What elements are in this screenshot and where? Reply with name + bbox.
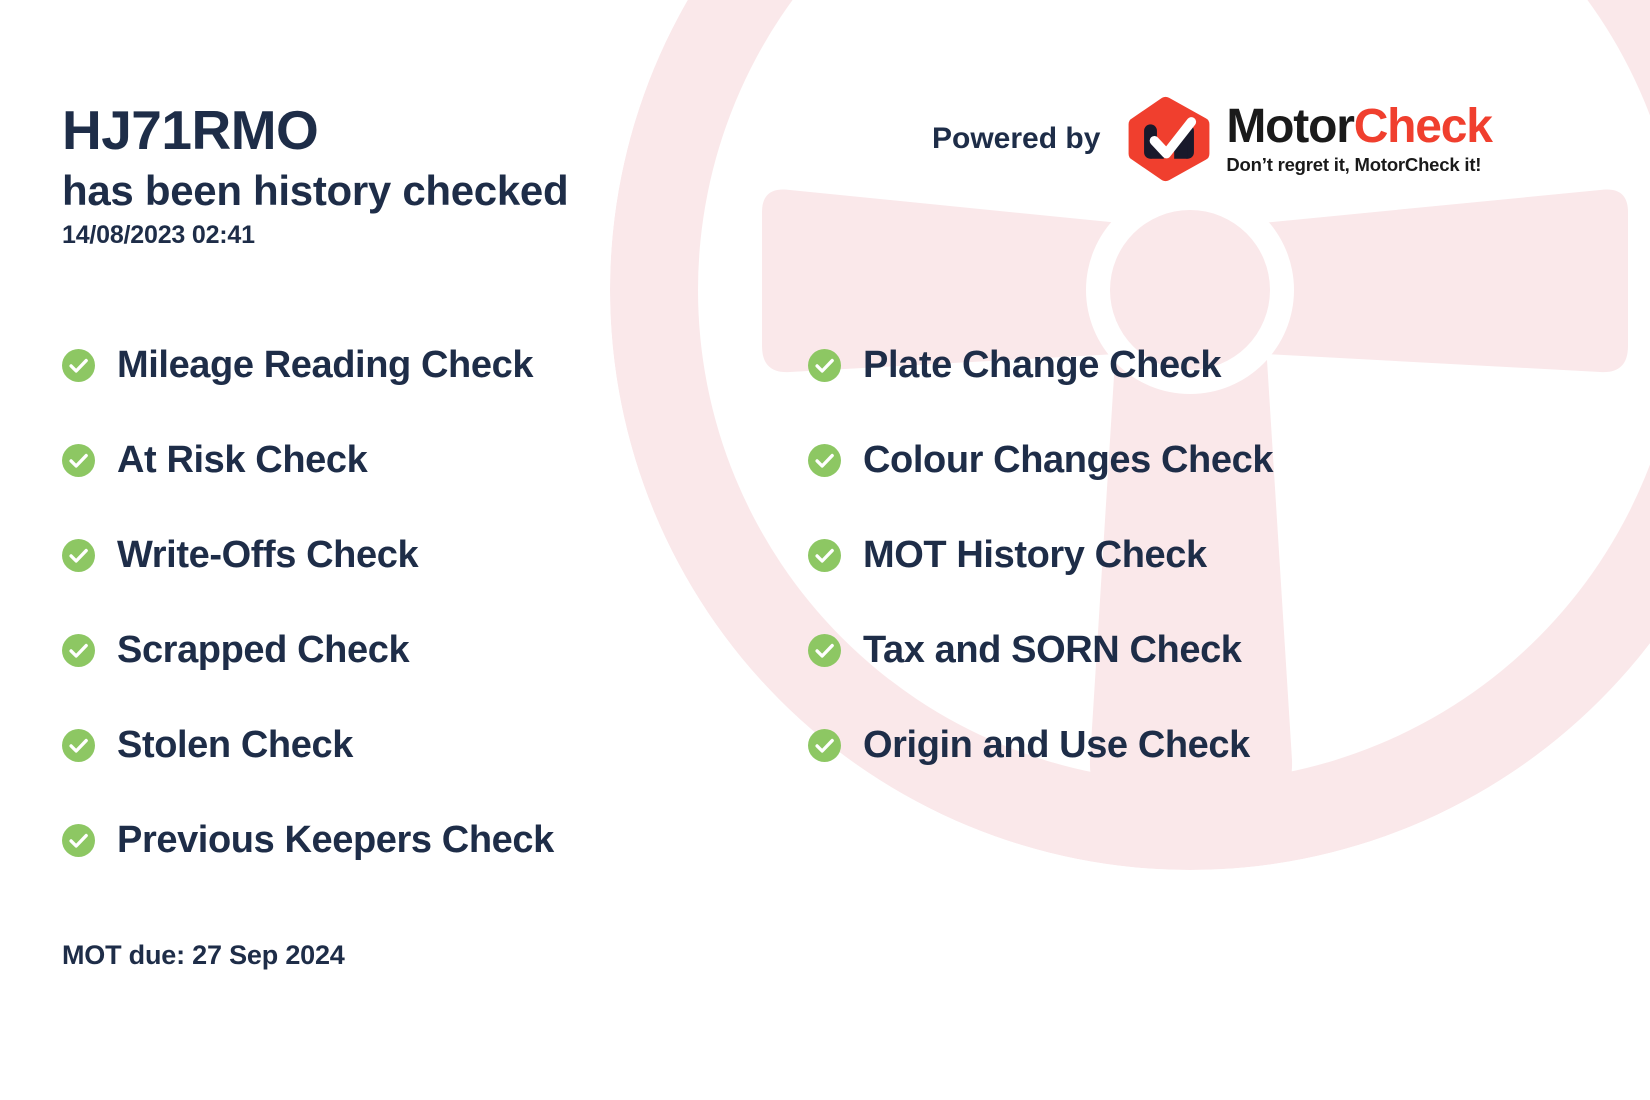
brand-block: Powered by MotorCheck Don’t regret it, M… [932,96,1492,182]
registration-plate-title: HJ71RMO [62,100,568,162]
green-check-circle-icon [808,444,841,477]
headline-subtitle: has been history checked [62,166,568,216]
check-label: At Risk Check [117,439,367,482]
brand-tagline: Don’t regret it, MotorCheck it! [1226,156,1491,175]
check-item-previous-keepers: Previous Keepers Check [62,793,762,888]
check-label: Stolen Check [117,724,353,767]
check-item-origin-and-use: Origin and Use Check [808,698,1508,793]
mot-due-label: MOT due: 27 Sep 2024 [62,940,345,971]
check-label: Tax and SORN Check [863,629,1242,672]
check-item-tax-and-sorn: Tax and SORN Check [808,603,1508,698]
check-label: Origin and Use Check [863,724,1250,767]
motorcheck-wordmark: MotorCheck [1226,103,1491,151]
check-label: MOT History Check [863,534,1207,577]
wordmark-motor: Motor [1226,100,1353,153]
green-check-circle-icon [62,729,95,762]
check-label: Mileage Reading Check [117,344,533,387]
check-item-plate-change: Plate Change Check [808,318,1508,413]
check-item-scrapped: Scrapped Check [62,603,762,698]
green-check-circle-icon [62,444,95,477]
wordmark-check: Check [1354,100,1492,153]
powered-by-label: Powered by [932,122,1100,156]
check-label: Colour Changes Check [863,439,1273,482]
green-check-circle-icon [62,539,95,572]
motorcheck-logo[interactable]: MotorCheck Don’t regret it, MotorCheck i… [1126,96,1491,182]
green-check-circle-icon [808,539,841,572]
header-block: HJ71RMO has been history checked 14/08/2… [62,100,568,250]
check-label: Scrapped Check [117,629,409,672]
motorcheck-hexagon-logo-icon [1126,96,1212,182]
check-timestamp: 14/08/2023 02:41 [62,221,568,250]
green-check-circle-icon [62,824,95,857]
checks-column-right: Plate Change Check Colour Changes Check … [808,318,1508,793]
check-item-stolen: Stolen Check [62,698,762,793]
check-label: Plate Change Check [863,344,1221,387]
green-check-circle-icon [808,634,841,667]
vehicle-history-check-card: HJ71RMO has been history checked 14/08/2… [0,0,1650,1100]
checks-column-left: Mileage Reading Check At Risk Check Writ… [62,318,762,888]
check-item-mot-history: MOT History Check [808,508,1508,603]
green-check-circle-icon [62,634,95,667]
green-check-circle-icon [808,729,841,762]
check-item-at-risk: At Risk Check [62,413,762,508]
check-label: Previous Keepers Check [117,819,554,862]
check-item-mileage-reading: Mileage Reading Check [62,318,762,413]
check-item-colour-changes: Colour Changes Check [808,413,1508,508]
green-check-circle-icon [62,349,95,382]
check-item-write-offs: Write-Offs Check [62,508,762,603]
check-label: Write-Offs Check [117,534,418,577]
green-check-circle-icon [808,349,841,382]
